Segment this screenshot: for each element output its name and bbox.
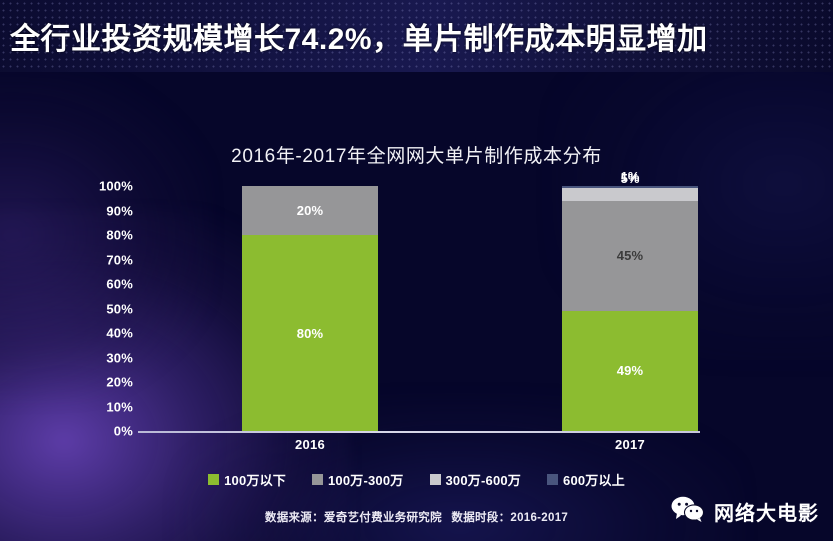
y-axis-tick: 80% xyxy=(85,228,133,243)
chart-legend: 100万以下100万-300万300万-600万600万以上 xyxy=(0,470,833,489)
stacked-bar-2016[interactable]: 80%20% xyxy=(242,186,378,431)
legend-label: 600万以上 xyxy=(563,470,625,489)
y-axis-tick: 70% xyxy=(85,252,133,267)
y-axis-tick: 10% xyxy=(85,399,133,414)
legend-item[interactable]: 600万以上 xyxy=(547,470,625,489)
wechat-icon xyxy=(671,496,705,527)
bar-segment[interactable] xyxy=(562,188,698,200)
watermark: 网络大电影 xyxy=(671,496,819,527)
legend-swatch xyxy=(208,474,219,485)
stacked-bar-2017[interactable]: 49%45% xyxy=(562,186,698,431)
x-axis-line xyxy=(138,431,700,433)
y-axis-tick: 30% xyxy=(85,350,133,365)
y-axis: 100%90%80%70%60%50%40%30%20%10%0% xyxy=(85,0,133,541)
x-axis-tick: 2016 xyxy=(242,437,378,452)
legend-swatch xyxy=(312,474,323,485)
slide-canvas: 全行业投资规模增长74.2%，单片制作成本明显增加 2016年-2017年全网网… xyxy=(0,0,833,541)
bar-segment-label: 80% xyxy=(297,326,324,341)
watermark-text: 网络大电影 xyxy=(714,497,819,526)
source-label: 数据来源：爱奇艺付费业务研究院 xyxy=(265,512,442,524)
y-axis-tick: 20% xyxy=(85,375,133,390)
y-axis-tick: 90% xyxy=(85,203,133,218)
legend-label: 100万以下 xyxy=(224,470,286,489)
bar-segment-label: 49% xyxy=(617,363,644,378)
y-axis-tick: 100% xyxy=(85,179,133,194)
bar-segment-label: 45% xyxy=(617,248,644,263)
legend-item[interactable]: 300万-600万 xyxy=(430,470,522,489)
y-axis-tick: 50% xyxy=(85,301,133,316)
legend-swatch xyxy=(547,474,558,485)
legend-item[interactable]: 100万以下 xyxy=(208,470,286,489)
y-axis-tick: 40% xyxy=(85,326,133,341)
legend-label: 300万-600万 xyxy=(446,470,522,489)
y-axis-tick: 60% xyxy=(85,277,133,292)
x-axis-tick: 2017 xyxy=(562,437,698,452)
bar-segment[interactable]: 45% xyxy=(562,201,698,311)
legend-item[interactable]: 100万-300万 xyxy=(312,470,404,489)
bar-segment[interactable]: 49% xyxy=(562,311,698,431)
legend-swatch xyxy=(430,474,441,485)
legend-label: 100万-300万 xyxy=(328,470,404,489)
bar-segment-label: 20% xyxy=(297,203,324,218)
bar-segment[interactable]: 80% xyxy=(242,235,378,431)
bar-segment[interactable] xyxy=(562,186,698,188)
chart-plot-area: 100%90%80%70%60%50%40%30%20%10%0% 80%20%… xyxy=(0,0,833,541)
y-axis-tick: 0% xyxy=(85,424,133,439)
bar-segment[interactable]: 20% xyxy=(242,186,378,235)
period-label: 数据时段：2016-2017 xyxy=(451,512,568,524)
bar-segment-label: 1% xyxy=(562,169,698,184)
